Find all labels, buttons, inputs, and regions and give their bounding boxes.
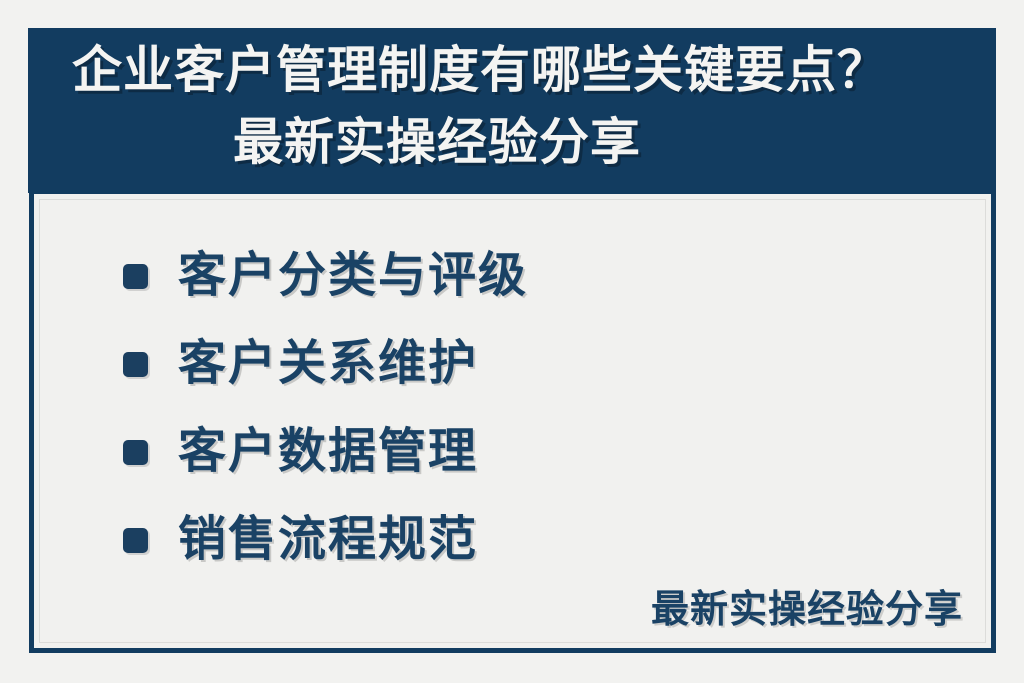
list-item: 客户数据管理 [34, 408, 991, 496]
square-bullet-icon [123, 264, 148, 289]
page-title-line-2: 最新实操经验分享 [28, 106, 996, 178]
list-item-label: 销售流程规范 [178, 512, 478, 568]
list-item-label: 客户关系维护 [178, 336, 478, 392]
header-banner: 企业客户管理制度有哪些关键要点？ 最新实操经验分享 [28, 28, 996, 193]
list-item: 客户分类与评级 [34, 232, 991, 320]
list-item-label: 客户分类与评级 [178, 248, 528, 304]
card-footer: 最新实操经验分享 [651, 586, 963, 634]
square-bullet-icon [123, 352, 148, 377]
bullet-list: 客户分类与评级 客户关系维护 客户数据管理 销售流程规范 [34, 194, 991, 584]
poster-canvas: 企业客户管理制度有哪些关键要点？ 最新实操经验分享 客户分类与评级 客户关系维护… [0, 0, 1024, 683]
footer-tagline: 最新实操经验分享 [651, 586, 963, 634]
page-title-line-1: 企业客户管理制度有哪些关键要点？ [28, 34, 996, 106]
list-item: 销售流程规范 [34, 496, 991, 584]
list-item-label: 客户数据管理 [178, 424, 478, 480]
square-bullet-icon [123, 440, 148, 465]
list-item: 客户关系维护 [34, 320, 991, 408]
content-card: 客户分类与评级 客户关系维护 客户数据管理 销售流程规范 最新实操经验分享 [29, 193, 996, 653]
square-bullet-icon [123, 528, 148, 553]
